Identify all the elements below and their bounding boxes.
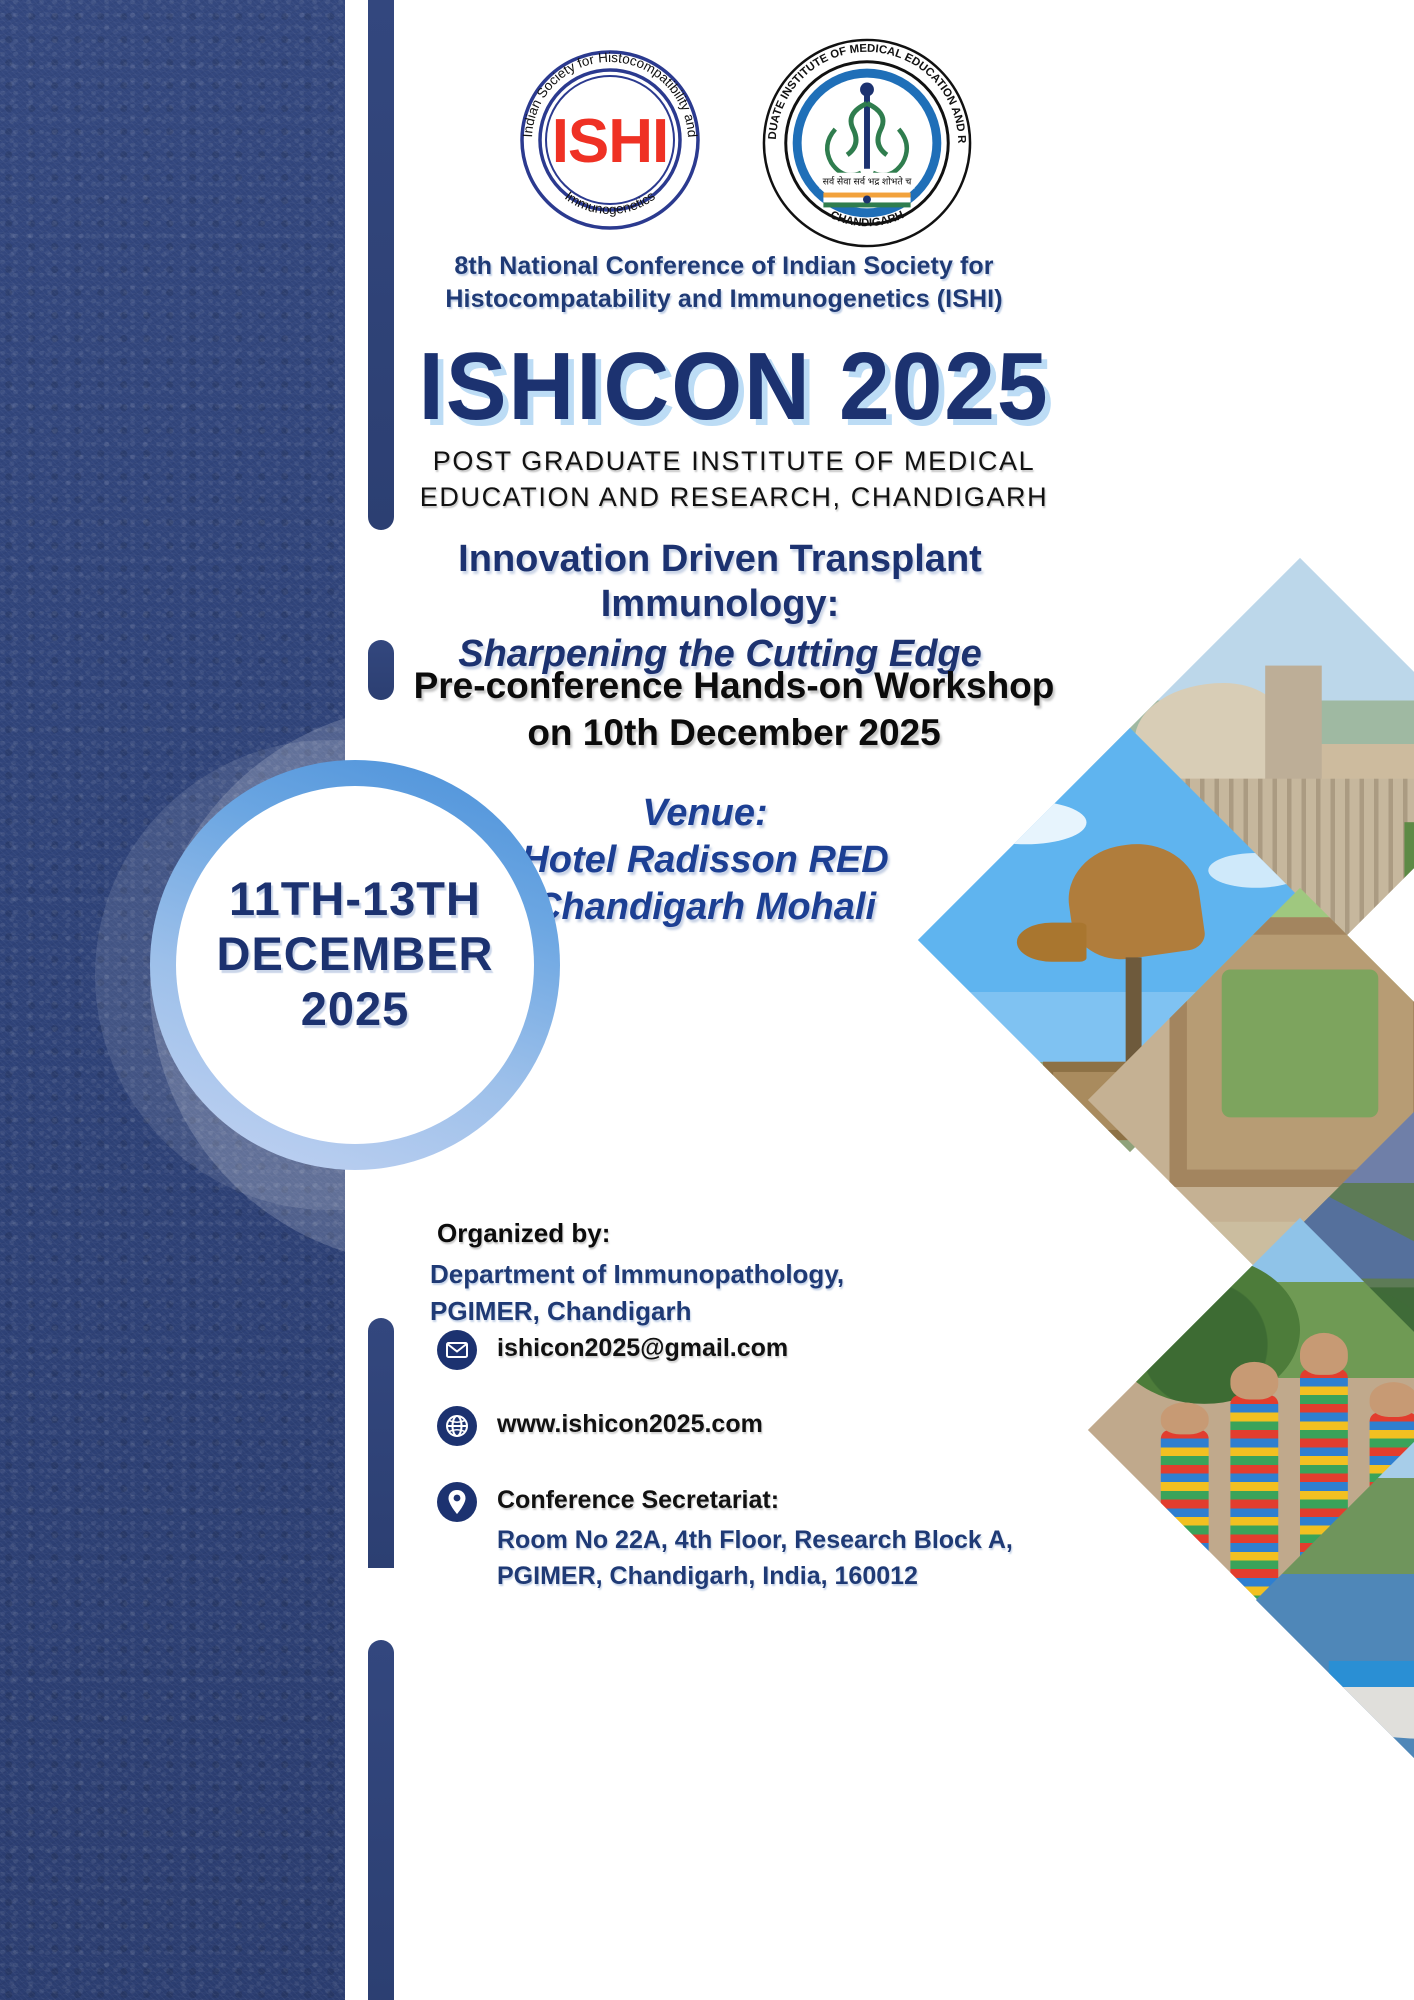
preconference-workshop: Pre-conference Hands-on Workshop on 10th… [394, 663, 1074, 756]
capitol-trees [1404, 822, 1414, 970]
address-line1: Room No 22A, 4th Floor, Research Block A… [497, 1523, 1057, 1559]
contact-row-email: ishicon2025@gmail.com [437, 1330, 1057, 1382]
contact-secretariat-label: Conference Secretariat: [497, 1482, 1057, 1515]
contact-secretariat-address: Room No 22A, 4th Floor, Research Block A… [497, 1523, 1057, 1594]
theme-line1: Innovation Driven Transplant Immunology: [458, 538, 982, 625]
boat-stripe [1329, 1661, 1414, 1687]
envelope-icon [437, 1330, 477, 1370]
page-title: ISHICON 2025 [411, 332, 1057, 442]
society-subtitle-line1: 8th National Conference of Indian Societ… [394, 250, 1054, 283]
vertical-accent-bar-lower [368, 1318, 394, 1568]
organizer-line2: PGIMER, Chandigarh [430, 1293, 1030, 1330]
workshop-line2: on 10th December 2025 [394, 710, 1074, 757]
svg-text:ISHI: ISHI [552, 107, 669, 176]
organizer-line1: Department of Immunopathology, [430, 1256, 1030, 1293]
photo-collage [1000, 620, 1414, 1700]
svg-text:सर्व सेवा सर्व भद्र शोभते च: सर्व सेवा सर्व भद्र शोभते च [823, 176, 913, 187]
society-subtitle-line2: Histocompatability and Immunogenetics (I… [394, 283, 1054, 316]
contact-row-website: www.ishicon2025.com [437, 1406, 1057, 1458]
institute-name: POST GRADUATE INSTITUTE OF MEDICAL EDUCA… [394, 443, 1074, 515]
boat-hull [1329, 1678, 1414, 1739]
conference-poster: Indian Society for Histocompatibility an… [0, 0, 1414, 2000]
conference-dates: 11TH-13TH DECEMBER 2025 [150, 872, 560, 1037]
vertical-accent-bar-top [368, 0, 394, 530]
date-badge: 11TH-13TH DECEMBER 2025 [150, 760, 560, 1170]
assembly-opening [1222, 970, 1379, 1118]
institute-line2: EDUCATION AND RESEARCH, CHANDIGARH [394, 479, 1074, 515]
ishi-logo: Indian Society for Histocompatibility an… [510, 40, 710, 240]
date-line2: DECEMBER [150, 927, 560, 982]
globe-icon [437, 1406, 477, 1446]
sky-cloud-left [965, 801, 1087, 845]
open-hand-thumb [1017, 923, 1087, 962]
contact-row-secretariat: Conference Secretariat: Room No 22A, 4th… [437, 1482, 1057, 1594]
workshop-line1: Pre-conference Hands-on Workshop [394, 663, 1074, 710]
contact-email[interactable]: ishicon2025@gmail.com [497, 1330, 1057, 1363]
location-pin-icon [437, 1482, 477, 1522]
date-line3: 2025 [150, 982, 560, 1037]
society-subtitle: 8th National Conference of Indian Societ… [394, 250, 1054, 317]
date-line1: 11TH-13TH [150, 872, 560, 927]
contact-list: ishicon2025@gmail.com www.ishicon2025.co… [437, 1330, 1057, 1618]
address-line2: PGIMER, Chandigarh, India, 160012 [497, 1559, 1057, 1595]
organizer-name: Department of Immunopathology, PGIMER, C… [430, 1256, 1030, 1330]
vertical-accent-bar-bottom [368, 1640, 394, 2000]
institute-line1: POST GRADUATE INSTITUTE OF MEDICAL [394, 443, 1074, 479]
organized-by-label: Organized by: [437, 1218, 610, 1249]
rock-figure-1 [1161, 1430, 1209, 1630]
contact-website[interactable]: www.ishicon2025.com [497, 1406, 1057, 1439]
conference-theme: Innovation Driven Transplant Immunology:… [340, 537, 1100, 676]
logo-row: Indian Society for Histocompatibility an… [500, 28, 1020, 248]
pgimer-logo: POST GRADUATE INSTITUTE OF MEDICAL EDUCA… [758, 34, 976, 252]
